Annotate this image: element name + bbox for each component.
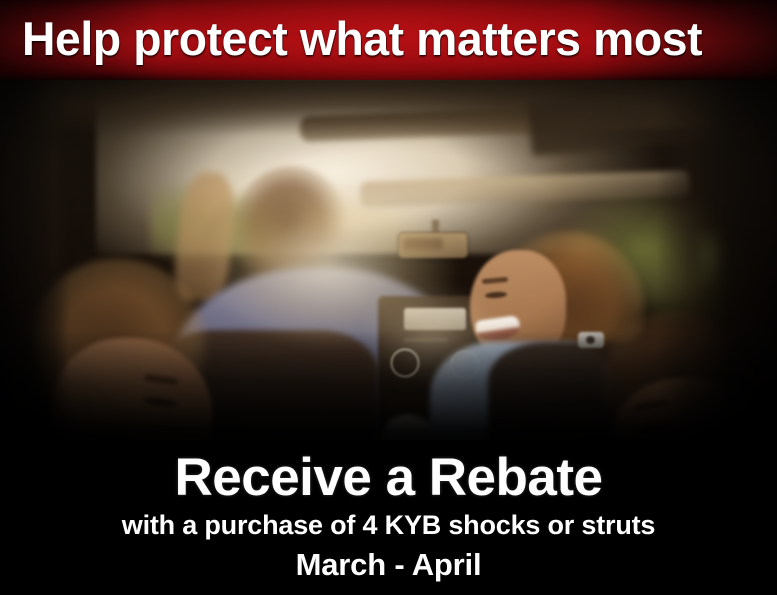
seatbelt-buckle	[578, 332, 604, 348]
promo-text-block: Receive a Rebate with a purchase of 4 KY…	[0, 440, 777, 595]
promo-subtext: with a purchase of 4 KYB shocks or strut…	[0, 509, 777, 542]
rearview-mirror	[398, 232, 468, 258]
advertisement-banner: Help protect what matters most	[0, 0, 777, 595]
family-car-photo	[0, 80, 777, 460]
pillar-left-shadow	[0, 80, 70, 460]
banner-headline: Help protect what matters most	[22, 9, 746, 69]
promo-headline: Receive a Rebate	[0, 448, 777, 508]
promo-dates: March - April	[0, 546, 777, 583]
pillar-right-shadow	[657, 80, 777, 460]
header-banner: Help protect what matters most	[0, 0, 777, 80]
sun-flare-secondary	[330, 260, 530, 410]
